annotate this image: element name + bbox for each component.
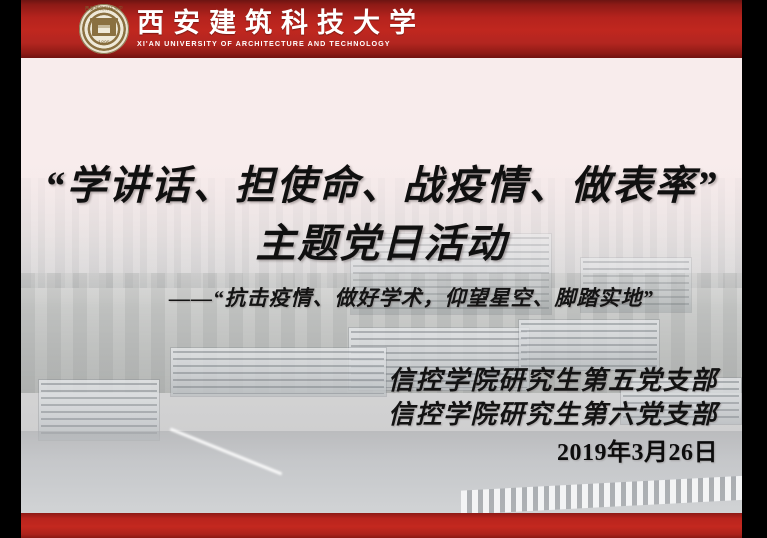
signature-line-1: 信控学院研究生第五党支部 xyxy=(388,364,718,398)
letterbox-bar-right xyxy=(742,0,767,538)
slide-title-line-1: “学讲话、担使命、战疫情、做表率” xyxy=(21,162,742,210)
university-name-cn: 西安建筑科技大学 xyxy=(137,8,425,38)
university-wordmark: 西安建筑科技大学 XI'AN UNIVERSITY OF ARCHITECTUR… xyxy=(137,8,425,49)
seal-top-text: 西安建筑科技大学 xyxy=(79,8,129,13)
presentation-screen: 西安建筑科技大学 1895 西安建筑科技大学 XI'AN UNIVERSITY … xyxy=(0,0,767,538)
slide-canvas: 西安建筑科技大学 1895 西安建筑科技大学 XI'AN UNIVERSITY … xyxy=(21,0,742,538)
signature-line-2: 信控学院研究生第六党支部 xyxy=(388,398,718,432)
slide-title-line-2: 主题党日活动 xyxy=(21,220,742,268)
slide-footer-band xyxy=(21,513,742,538)
university-seal-icon: 西安建筑科技大学 1895 xyxy=(79,4,129,54)
seal-building-glyph xyxy=(92,21,116,36)
slide-signature-block: 信控学院研究生第五党支部 信控学院研究生第六党支部 2019年3月26日 xyxy=(388,364,718,470)
slide-content: “学讲话、担使命、战疫情、做表率” 主题党日活动 ——“抗击疫情、做好学术，仰望… xyxy=(21,58,742,513)
university-name-en: XI'AN UNIVERSITY OF ARCHITECTURE AND TEC… xyxy=(137,39,425,49)
letterbox-bar-left xyxy=(0,0,21,538)
seal-year: 1895 xyxy=(79,42,129,47)
slide-subtitle: ——“抗击疫情、做好学术，仰望星空、脚踏实地” xyxy=(21,285,742,311)
slide-date: 2019年3月26日 xyxy=(388,436,718,470)
